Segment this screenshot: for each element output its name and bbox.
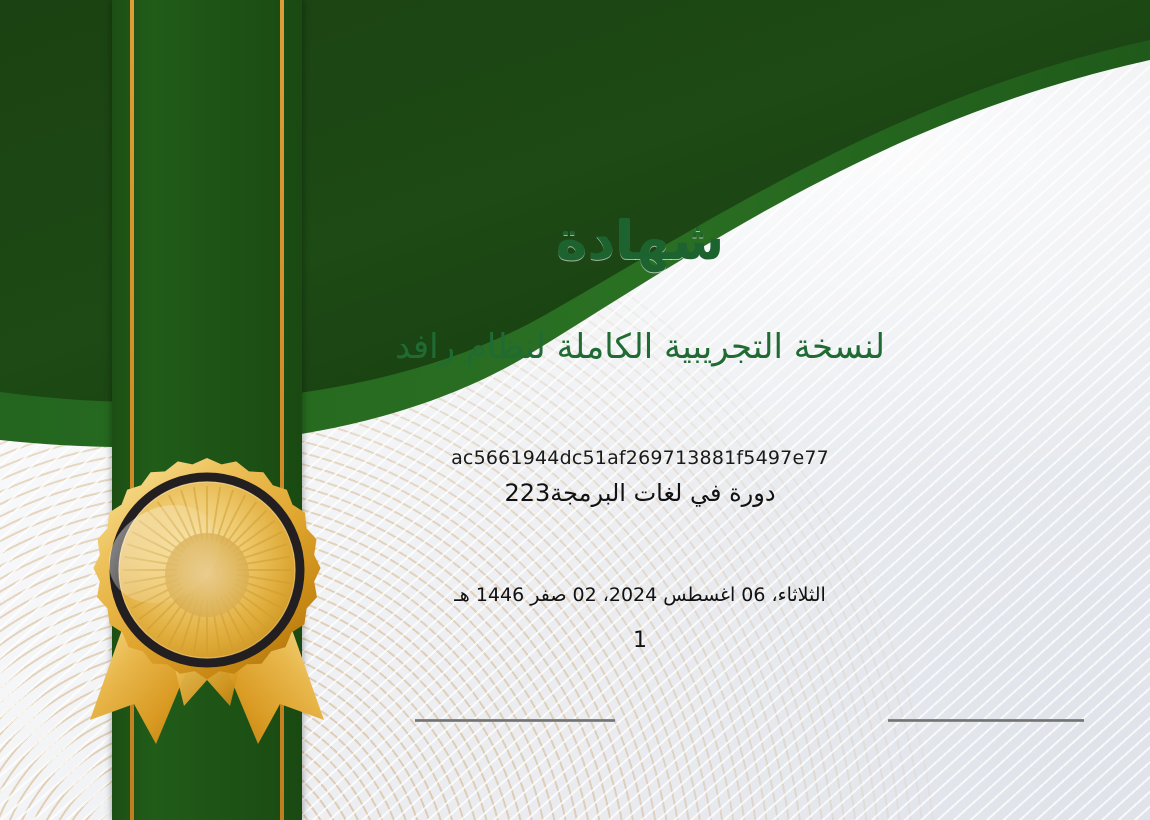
serial-number: 1	[0, 628, 1150, 653]
certificate-content: شهادة لنسخة التجريبية الكاملة لنظام رافد…	[0, 0, 1150, 820]
signature-line-right	[888, 719, 1084, 722]
certificate-title: شهادة	[0, 210, 1150, 272]
certificate-canvas: شهادة لنسخة التجريبية الكاملة لنظام رافد…	[0, 0, 1150, 820]
signature-line-left	[415, 719, 615, 722]
verification-hash: ac5661944dc51af269713881f5497e77	[0, 447, 1150, 469]
certificate-subtitle: لنسخة التجريبية الكاملة لنظام رافد	[0, 325, 1150, 369]
course-name: دورة في لغات البرمجة223	[0, 478, 1150, 509]
issue-date: الثلاثاء، 06 اغسطس 2024، 02 صفر 1446 هـ	[0, 584, 1150, 606]
